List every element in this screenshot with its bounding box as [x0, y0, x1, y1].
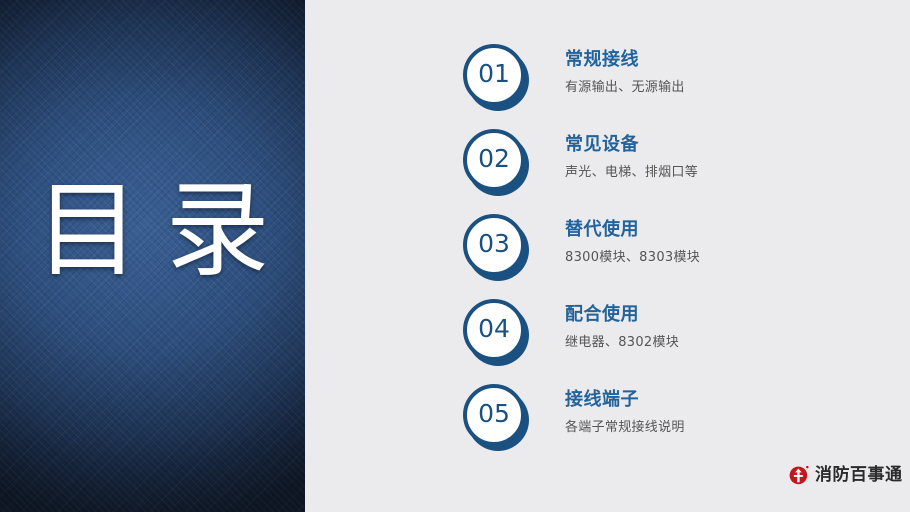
presentation-slide: 目录 01 常规接线 有源输出、无源输出 02 常见设备 声光、电梯、排烟口等 [0, 0, 910, 512]
toc-number-badge: 03 [463, 214, 533, 284]
toc-item-subtitle: 有源输出、无源输出 [565, 79, 895, 97]
toc-number-label: 03 [463, 214, 525, 276]
toc-item-subtitle: 各端子常规接线说明 [565, 419, 895, 437]
toc-item-title: 常见设备 [565, 133, 895, 157]
toc-number-label: 02 [463, 129, 525, 191]
toc-item-title: 接线端子 [565, 388, 895, 412]
toc-number-badge: 02 [463, 129, 533, 199]
toc-item-03[interactable]: 03 替代使用 8300模块、8303模块 [305, 214, 910, 288]
toc-item-04[interactable]: 04 配合使用 继电器、8302模块 [305, 299, 910, 373]
toc-number-badge: 05 [463, 384, 533, 454]
left-title-panel: 目录 [0, 0, 305, 512]
toc-item-01[interactable]: 01 常规接线 有源输出、无源输出 [305, 44, 910, 118]
toc-item-subtitle: 继电器、8302模块 [565, 334, 895, 352]
toc-text-block: 接线端子 各端子常规接线说明 [565, 388, 895, 437]
toc-number-badge: 04 [463, 299, 533, 369]
toc-item-02[interactable]: 02 常见设备 声光、电梯、排烟口等 [305, 129, 910, 203]
toc-item-subtitle: 8300模块、8303模块 [565, 249, 895, 267]
brand-logo: 消防百事通 [788, 461, 903, 489]
toc-number-label: 01 [463, 44, 525, 106]
toc-text-block: 配合使用 继电器、8302模块 [565, 303, 895, 352]
toc-item-title: 配合使用 [565, 303, 895, 327]
toc-number-badge: 01 [463, 44, 533, 114]
table-of-contents: 01 常规接线 有源输出、无源输出 02 常见设备 声光、电梯、排烟口等 0 [305, 0, 910, 512]
toc-text-block: 替代使用 8300模块、8303模块 [565, 218, 895, 267]
toc-number-label: 05 [463, 384, 525, 446]
brand-name: 消防百事通 [815, 464, 903, 486]
fire-shield-arrow-icon [788, 464, 810, 486]
toc-item-title: 替代使用 [565, 218, 895, 242]
toc-number-label: 04 [463, 299, 525, 361]
toc-text-block: 常规接线 有源输出、无源输出 [565, 48, 895, 97]
toc-text-block: 常见设备 声光、电梯、排烟口等 [565, 133, 895, 182]
toc-item-title: 常规接线 [565, 48, 895, 72]
toc-item-subtitle: 声光、电梯、排烟口等 [565, 164, 895, 182]
toc-item-05[interactable]: 05 接线端子 各端子常规接线说明 [305, 384, 910, 458]
page-title: 目录 [0, 178, 305, 282]
